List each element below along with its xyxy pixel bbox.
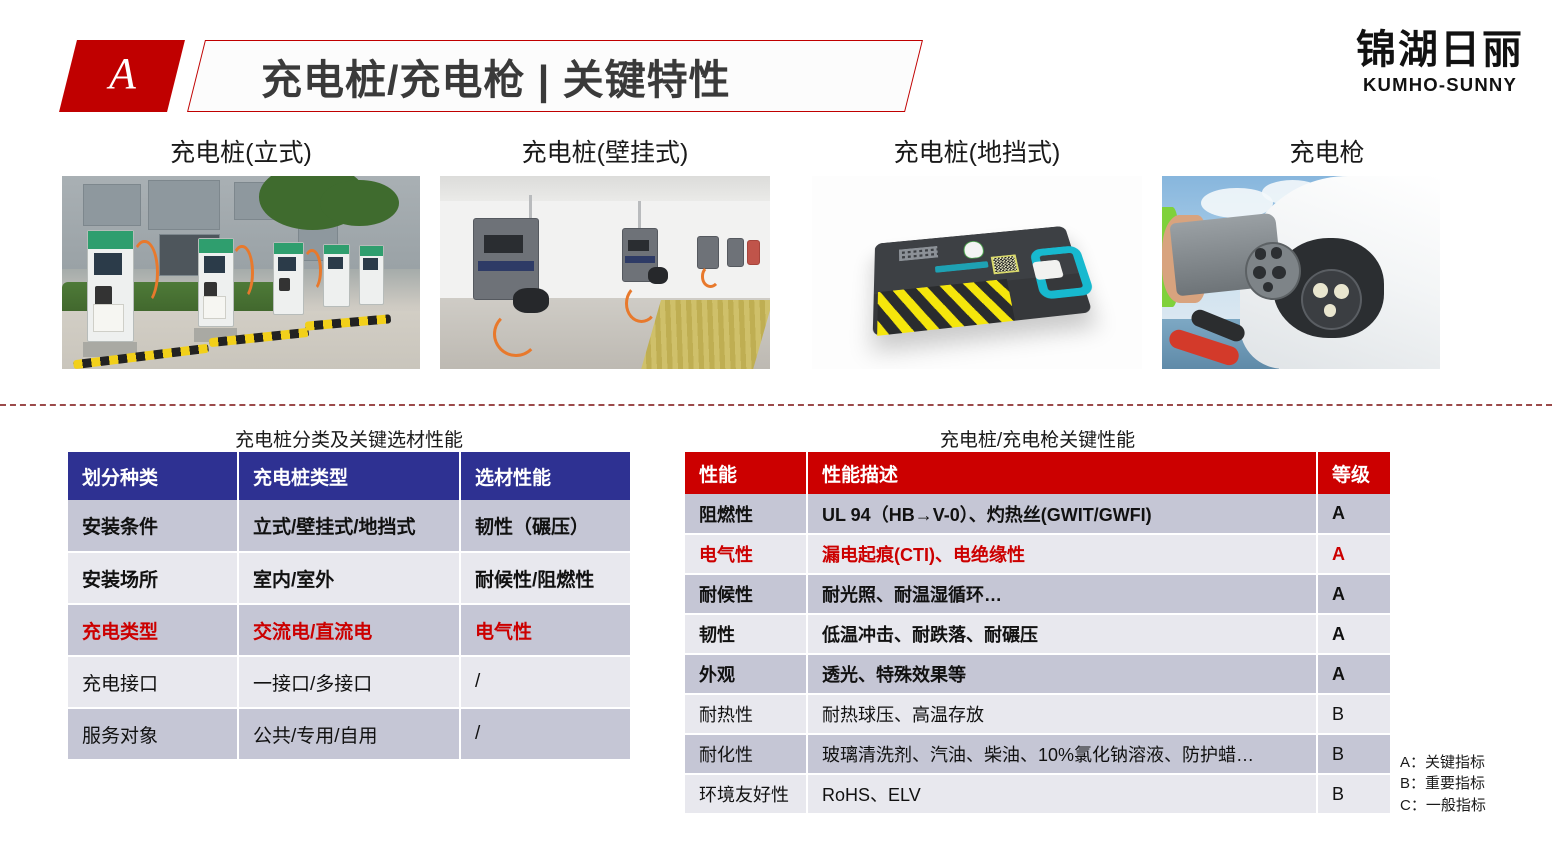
right-table-section: 充电桩/充电枪关键性能 性能 性能描述 等级 阻燃性UL 94（HB→V-0）、… — [685, 425, 1390, 815]
cell-category: 服务对象 — [68, 708, 238, 760]
table-header-row: 性能 性能描述 等级 — [685, 452, 1390, 494]
cell-category: 安装场所 — [68, 552, 238, 604]
cell-material-property: 耐候性/阻燃性 — [460, 552, 630, 604]
photo-tree — [320, 180, 399, 226]
photo-charging-pile — [87, 230, 134, 342]
photo-pile-gun — [279, 278, 290, 291]
photo-image-ground-block — [812, 176, 1142, 369]
photo-caption-vertical-pile: 充电桩(立式) — [62, 134, 420, 176]
table-row: 阻燃性UL 94（HB→V-0）、灼热丝(GWIT/GWFI)A — [685, 494, 1390, 534]
photo-charger-screen — [628, 240, 649, 251]
photo-image-wall-mounted — [440, 176, 770, 369]
photo-socket-pin — [1334, 284, 1349, 299]
cell-material-property: 韧性（碾压） — [460, 500, 630, 552]
photo-charging-pile — [198, 238, 234, 327]
page-title: 充电桩/充电枪 | 关键特性 — [261, 46, 731, 106]
cell-grade: A — [1317, 614, 1390, 654]
table-row: 韧性低温冲击、耐跌落、耐碾压A — [685, 614, 1390, 654]
cell-performance: 外观 — [685, 654, 807, 694]
photo-pile-screen — [204, 256, 225, 273]
table-row: 耐候性耐光照、耐温湿循环…A — [685, 574, 1390, 614]
cell-category: 充电类型 — [68, 604, 238, 656]
column-header-performance: 性能 — [685, 452, 807, 494]
logo-chinese-text: 锦湖日丽 — [1356, 30, 1524, 70]
photo-charger-band — [478, 261, 534, 271]
table-row: 耐化性玻璃清洗剂、汽油、柴油、10%氯化钠溶液、防护蜡…B — [685, 734, 1390, 774]
photo-wall-charger — [727, 238, 744, 267]
photo-gun-pin — [1271, 247, 1283, 258]
right-table-title: 充电桩/充电枪关键性能 — [685, 425, 1390, 452]
photo-caption-charging-gun: 充电枪 — [1162, 134, 1492, 176]
photo-window — [148, 180, 220, 230]
cell-performance: 韧性 — [685, 614, 807, 654]
photo-socket-pin — [1313, 283, 1328, 298]
photo-pile-screen — [328, 257, 343, 269]
photo-white-plug — [1031, 260, 1063, 280]
title-banner: 充电桩/充电枪 | 关键特性 — [187, 40, 923, 112]
photo-charging-pile — [359, 245, 384, 305]
cell-description: 漏电起痕(CTI)、电绝缘性 — [807, 534, 1317, 574]
slide-header: A 充电桩/充电枪 | 关键特性 锦湖日丽 KUMHO-SUNNY — [0, 0, 1552, 128]
photo-gun-pin — [1263, 282, 1274, 292]
cell-performance: 耐化性 — [685, 734, 807, 774]
cell-performance: 阻燃性 — [685, 494, 807, 534]
right-table-body: 阻燃性UL 94（HB→V-0）、灼热丝(GWIT/GWFI)A电气性漏电起痕(… — [685, 494, 1390, 814]
photo-cable — [302, 249, 322, 291]
photo-qr-code — [990, 255, 1019, 275]
column-header-pile-type: 充电桩类型 — [238, 452, 460, 500]
photo-gun-pins — [1251, 245, 1295, 295]
cell-pile-type: 立式/壁挂式/地挡式 — [238, 500, 460, 552]
photo-wall-charger — [697, 236, 718, 269]
photo-window — [83, 184, 140, 226]
photo-pile-header — [88, 231, 133, 249]
product-photo-strip: 充电桩(立式) — [0, 134, 1552, 389]
cell-pile-type: 室内/室外 — [238, 552, 460, 604]
cell-description: UL 94（HB→V-0）、灼热丝(GWIT/GWFI) — [807, 494, 1317, 534]
table-row: 服务对象公共/专用/自用/ — [68, 708, 630, 760]
cell-description: 透光、特殊效果等 — [807, 654, 1317, 694]
photo-gun-holder — [513, 288, 549, 313]
legend-line-b: B：重要指标 — [1400, 773, 1486, 794]
photo-ceiling — [440, 176, 770, 201]
cell-description: 耐热球压、高温存放 — [807, 694, 1317, 734]
column-header-category: 划分种类 — [68, 452, 238, 500]
photo-pile-label — [93, 304, 123, 333]
photo-ground-charger — [872, 226, 1091, 337]
photo-socket-pin — [1324, 304, 1337, 317]
cell-material-property: / — [460, 708, 630, 760]
photo-image-vertical-pile — [62, 176, 420, 369]
cell-performance: 电气性 — [685, 534, 807, 574]
photo-floor-grating — [641, 300, 770, 369]
cell-grade: B — [1317, 774, 1390, 814]
cell-pile-type: 一接口/多接口 — [238, 656, 460, 708]
photo-pile-header — [274, 243, 302, 254]
table-row: 电气性漏电起痕(CTI)、电绝缘性A — [685, 534, 1390, 574]
cell-performance: 耐候性 — [685, 574, 807, 614]
cell-category: 安装条件 — [68, 500, 238, 552]
table-row: 安装场所室内/室外耐候性/阻燃性 — [68, 552, 630, 604]
photo-charger-screen — [484, 235, 522, 252]
photo-pile-header — [360, 246, 383, 255]
photo-pile-header — [324, 245, 349, 255]
photo-pile-screen — [363, 258, 377, 270]
cell-description: 玻璃清洗剂、汽油、柴油、10%氯化钠溶液、防护蜡… — [807, 734, 1317, 774]
photo-car-socket — [1301, 269, 1362, 331]
cell-grade: A — [1317, 494, 1390, 534]
charging-pile-classification-table: 划分种类 充电桩类型 选材性能 安装条件立式/壁挂式/地挡式韧性（碾压）安装场所… — [68, 452, 630, 761]
cell-grade: B — [1317, 694, 1390, 734]
key-performance-table: 性能 性能描述 等级 阻燃性UL 94（HB→V-0）、灼热丝(GWIT/GWF… — [685, 452, 1390, 815]
cell-description: RoHS、ELV — [807, 774, 1317, 814]
column-header-material-property: 选材性能 — [460, 452, 630, 500]
photo-pile-header — [199, 239, 233, 253]
photo-gun-pin — [1255, 248, 1267, 259]
photo-caption-wall-mounted: 充电桩(壁挂式) — [440, 134, 770, 176]
photo-image-charging-gun — [1162, 176, 1440, 369]
cell-pile-type: 公共/专用/自用 — [238, 708, 460, 760]
photo-gun-pin — [1272, 266, 1285, 279]
section-badge-letter: A — [109, 52, 136, 100]
cell-grade: A — [1317, 654, 1390, 694]
photo-caption-ground-block: 充电桩(地挡式) — [812, 134, 1142, 176]
photo-cell-vertical-pile: 充电桩(立式) — [62, 134, 420, 369]
cell-performance: 环境友好性 — [685, 774, 807, 814]
photo-gun-pin — [1253, 266, 1266, 279]
legend-line-a: A：关键指标 — [1400, 752, 1486, 773]
cell-performance: 耐热性 — [685, 694, 807, 734]
photo-cable — [493, 311, 539, 357]
photo-wall-charger — [747, 240, 760, 265]
left-table-body: 安装条件立式/壁挂式/地挡式韧性（碾压）安装场所室内/室外耐候性/阻燃性充电类型… — [68, 500, 630, 760]
cell-material-property: 电气性 — [460, 604, 630, 656]
table-header-row: 划分种类 充电桩类型 选材性能 — [68, 452, 630, 500]
cell-material-property: / — [460, 656, 630, 708]
table-row: 充电类型交流电/直流电电气性 — [68, 604, 630, 656]
logo-english-text: KUMHO-SUNNY — [1356, 76, 1524, 95]
photo-cable — [130, 240, 159, 306]
photo-charging-pile — [323, 244, 350, 308]
photo-charging-pile — [273, 242, 303, 315]
company-logo: 锦湖日丽 KUMHO-SUNNY — [1356, 30, 1524, 95]
table-row: 环境友好性RoHS、ELVB — [685, 774, 1390, 814]
left-table-section: 充电桩分类及关键选材性能 划分种类 充电桩类型 选材性能 安装条件立式/壁挂式/… — [68, 425, 630, 761]
table-row: 充电接口一接口/多接口/ — [68, 656, 630, 708]
photo-cable — [625, 284, 658, 323]
photo-pile-screen — [94, 253, 122, 275]
cell-pile-type: 交流电/直流电 — [238, 604, 460, 656]
photo-pile-screen — [278, 257, 296, 271]
table-row: 安装条件立式/壁挂式/地挡式韧性（碾压） — [68, 500, 630, 552]
table-row: 耐热性耐热球压、高温存放B — [685, 694, 1390, 734]
cell-description: 耐光照、耐温湿循环… — [807, 574, 1317, 614]
table-row: 外观透光、特殊效果等A — [685, 654, 1390, 694]
cell-grade: B — [1317, 734, 1390, 774]
grade-legend: A：关键指标 B：重要指标 C：一般指标 — [1400, 752, 1486, 816]
column-header-grade: 等级 — [1317, 452, 1390, 494]
photo-cell-wall-mounted: 充电桩(壁挂式) — [440, 134, 770, 369]
photo-pile-label — [203, 296, 226, 319]
photo-cell-charging-gun: 充电枪 — [1162, 134, 1492, 369]
cell-category: 充电接口 — [68, 656, 238, 708]
cell-grade: A — [1317, 534, 1390, 574]
column-header-description: 性能描述 — [807, 452, 1317, 494]
photo-charger-band — [625, 256, 655, 263]
cell-description: 低温冲击、耐跌落、耐碾压 — [807, 614, 1317, 654]
cell-grade: A — [1317, 574, 1390, 614]
legend-line-c: C：一般指标 — [1400, 795, 1486, 816]
photo-cell-ground-block: 充电桩(地挡式) — [812, 134, 1142, 369]
section-divider — [0, 404, 1552, 406]
section-badge: A — [59, 40, 185, 112]
photo-cable — [230, 245, 253, 299]
photo-gun-holder — [648, 267, 668, 284]
left-table-title: 充电桩分类及关键选材性能 — [68, 425, 630, 452]
